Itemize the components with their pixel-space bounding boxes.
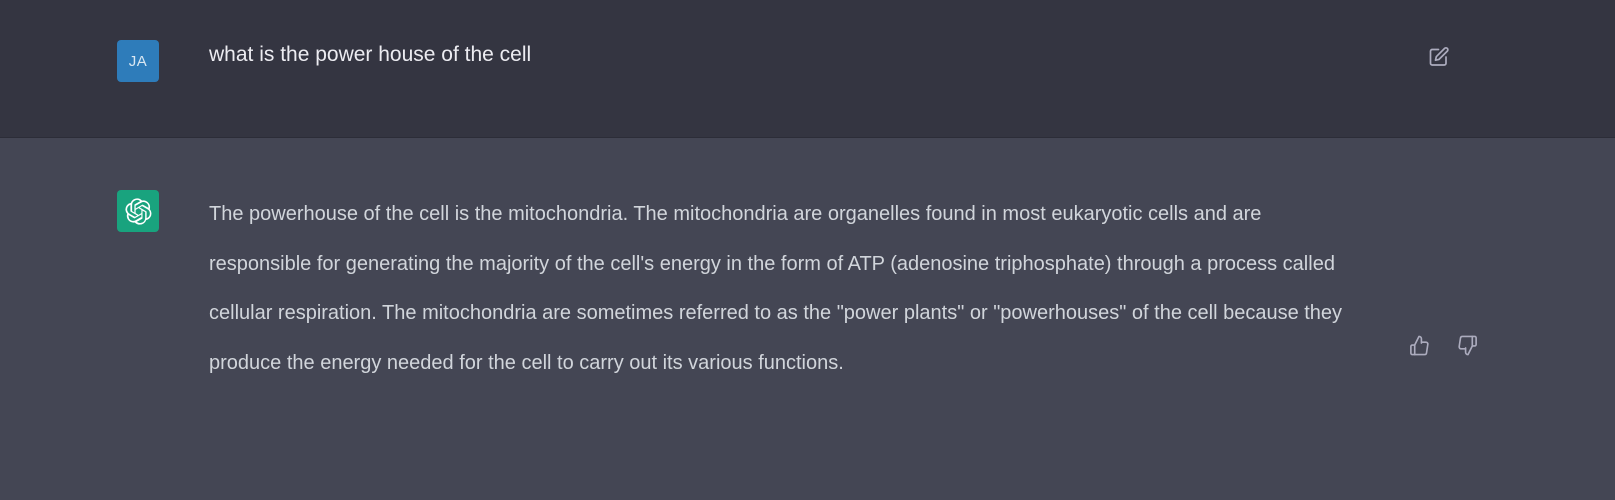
assistant-message-actions (1406, 332, 1480, 358)
edit-icon (1427, 45, 1451, 69)
message-row-assistant: The powerhouse of the cell is the mitoch… (0, 138, 1615, 500)
message-body-user: what is the power house of the cell (209, 40, 1495, 82)
message-row-user: JA what is the power house of the cell (0, 0, 1615, 138)
avatar (117, 190, 159, 232)
assistant-message-text: The powerhouse of the cell is the mitoch… (209, 190, 1349, 388)
openai-logo-icon (125, 198, 152, 225)
avatar: JA (117, 40, 159, 82)
thumbs-up-icon (1408, 334, 1431, 357)
message-content-user: JA what is the power house of the cell (0, 0, 1615, 82)
avatar-initials: JA (129, 53, 148, 70)
assistant-message-paragraph: The powerhouse of the cell is the mitoch… (209, 190, 1349, 388)
user-message-actions (1426, 44, 1452, 70)
edit-message-button[interactable] (1426, 44, 1452, 70)
thumbs-up-button[interactable] (1406, 332, 1432, 358)
user-message-text: what is the power house of the cell (209, 40, 1495, 68)
chat-thread: JA what is the power house of the cell (0, 0, 1615, 500)
message-body-assistant: The powerhouse of the cell is the mitoch… (209, 190, 1495, 388)
message-content-assistant: The powerhouse of the cell is the mitoch… (0, 138, 1615, 388)
thumbs-down-button[interactable] (1454, 332, 1480, 358)
thumbs-down-icon (1456, 334, 1479, 357)
